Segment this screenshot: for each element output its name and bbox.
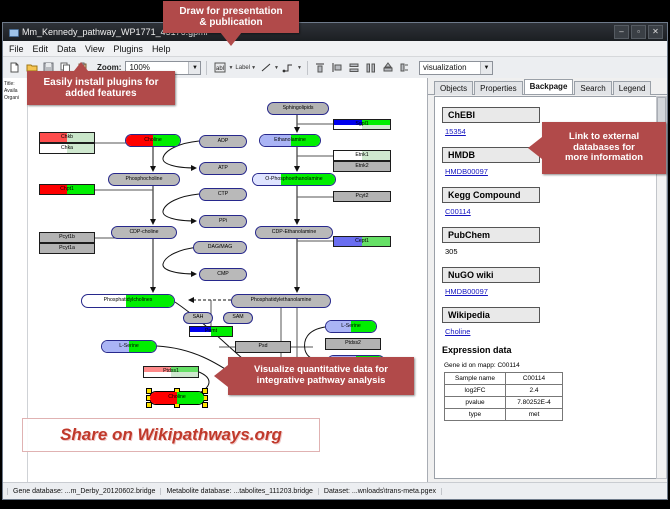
chevron-down-icon[interactable]: ▼ <box>251 65 256 71</box>
text-label-icon[interactable]: abl <box>212 60 227 75</box>
node-label: Choline <box>144 138 162 143</box>
gene-node[interactable]: Ptdss2 <box>325 338 381 350</box>
row-key: log2FC <box>445 385 506 397</box>
node-label: CMP <box>217 272 229 277</box>
metabolite-node[interactable]: CDP-choline <box>111 226 177 239</box>
node-label: Chka <box>61 146 73 151</box>
close-button[interactable]: ✕ <box>648 25 663 39</box>
gene-node[interactable]: Psd <box>235 341 291 353</box>
kegg-compound-header: Kegg Compound <box>442 187 540 203</box>
status-metabolite-database: Metabolite database: ...tabolites_111203… <box>161 488 318 495</box>
node-label: Ptdss2 <box>345 341 361 346</box>
menu-view[interactable]: View <box>85 44 104 54</box>
gene-node[interactable]: Pcyt1b <box>39 232 95 243</box>
share-banner: Share on Wikipathways.org <box>22 418 320 452</box>
node-label: Sphingolipids <box>283 106 314 111</box>
metabolite-node[interactable]: SAH <box>183 312 213 324</box>
row-value: C00114 <box>506 373 563 385</box>
status-gene-database: Gene database: ...m_Derby_20120602.bridg… <box>7 488 161 495</box>
metabolite-node[interactable]: Phosphatidylcholines <box>81 294 175 308</box>
nugo-wiki-link[interactable]: HMDB00097 <box>445 287 649 296</box>
connector-icon[interactable] <box>281 60 296 75</box>
gene-node[interactable]: Sgpl1 <box>333 119 391 130</box>
metabolite-node[interactable]: CTP <box>199 188 247 201</box>
node-label: SAH <box>193 315 204 320</box>
gene-node[interactable]: Ptdss1 <box>143 366 199 378</box>
node-label: ATP <box>218 166 228 171</box>
chevron-down-icon[interactable]: ▼ <box>188 62 200 74</box>
minimize-button[interactable]: – <box>614 25 629 39</box>
selected-metabolite-node[interactable]: Choline <box>149 391 205 405</box>
node-label: CTP <box>218 192 228 197</box>
node-label: CDP-Ethanolamine <box>272 230 316 235</box>
tab-properties[interactable]: Properties <box>474 81 522 95</box>
gene-node[interactable]: Chka <box>39 143 95 154</box>
metabolite-node[interactable]: ATP <box>199 162 247 175</box>
metabolite-node[interactable]: ADP <box>199 135 247 148</box>
align-top-icon[interactable] <box>313 60 328 75</box>
node-label: Pemt <box>205 329 217 334</box>
node-label: L-Serine <box>119 344 139 349</box>
node-label: CDP-choline <box>129 230 158 235</box>
metabolite-node[interactable]: CMP <box>199 268 247 281</box>
table-row: log2FC 2.4 <box>445 385 563 397</box>
row-value: met <box>506 409 563 421</box>
callout-links: Link to external databases for more info… <box>542 122 666 174</box>
status-dataset: Dataset: ...wnloads\trans-meta.pgex <box>319 488 442 495</box>
visualization-value: visualization <box>423 63 467 72</box>
chevron-down-icon[interactable]: ▼ <box>274 65 279 71</box>
info-organism-label: Organi <box>4 95 28 102</box>
gene-node[interactable]: Cept1 <box>333 236 391 247</box>
node-label: Etnk1 <box>355 153 368 158</box>
metabolite-node[interactable]: PPi <box>199 215 247 228</box>
callout-visualize: Visualize quantitative data for integrat… <box>228 357 414 395</box>
side-panel-tabs: Objects Properties Backpage Search Legen… <box>428 78 667 95</box>
tab-legend[interactable]: Legend <box>613 81 652 95</box>
metabolite-node[interactable]: DAG/MAG <box>193 241 247 254</box>
menubar: File Edit Data View Plugins Help <box>3 41 667 57</box>
chevron-down-icon[interactable]: ▼ <box>480 62 492 74</box>
node-label: Cept1 <box>355 239 369 244</box>
node-label: Pcyt2 <box>356 194 369 199</box>
gene-node[interactable]: Etnk1 <box>333 150 391 161</box>
nugo-wiki-header: NuGO wiki <box>442 267 540 283</box>
row-value: 2.4 <box>506 385 563 397</box>
pubchem-header: PubChem <box>442 227 540 243</box>
metabolite-node[interactable]: SAM <box>223 312 253 324</box>
table-row: type met <box>445 409 563 421</box>
node-label: Chkb <box>61 135 73 140</box>
stack-icon[interactable] <box>381 60 396 75</box>
tab-backpage[interactable]: Backpage <box>524 79 574 94</box>
distribute-vertical-icon[interactable] <box>347 60 362 75</box>
node-label: Psd <box>259 344 268 349</box>
expression-data-heading: Expression data <box>442 345 649 355</box>
callout-plugins-arrow-icon <box>70 62 92 76</box>
text-label-tool[interactable]: abl ▼ <box>212 60 233 75</box>
chevron-down-icon[interactable]: ▼ <box>228 65 233 71</box>
row-key: pvalue <box>445 397 506 409</box>
chebi-header: ChEBI <box>442 107 540 123</box>
window-titlebar: Mm_Kennedy_pathway_WP1771_45176.gpml – ▫… <box>3 23 667 41</box>
kegg-compound-link[interactable]: C00114 <box>445 207 649 216</box>
connector-tool[interactable]: ▼ <box>281 60 302 75</box>
line-icon[interactable] <box>258 60 273 75</box>
window-controls: – ▫ ✕ <box>614 25 667 39</box>
group-icon[interactable] <box>398 60 413 75</box>
node-label: PPi <box>219 219 227 224</box>
hmdb-header: HMDB <box>442 147 540 163</box>
menu-edit[interactable]: Edit <box>33 44 49 54</box>
table-row: Sample name C00114 <box>445 373 563 385</box>
row-value: 7.80252E-4 <box>506 397 563 409</box>
node-label: Pcyt1a <box>59 246 75 251</box>
node-label: L-Serine <box>341 324 361 329</box>
metabolite-node[interactable]: L-Serine <box>325 320 377 333</box>
pathway-info-strip: Title: Availa Organi <box>3 78 29 105</box>
info-availability-label: Availa <box>4 88 28 95</box>
menu-plugins[interactable]: Plugins <box>113 44 143 54</box>
node-label: Choline <box>168 395 186 400</box>
wikipedia-link[interactable]: Choline <box>445 327 649 336</box>
gene-node[interactable]: Chkb <box>39 132 95 143</box>
node-label: Sgpl1 <box>355 122 368 127</box>
label-tool[interactable]: Label ▼ <box>235 65 256 71</box>
chevron-down-icon[interactable]: ▼ <box>297 65 302 71</box>
line-tool[interactable]: ▼ <box>258 60 279 75</box>
expression-table: Sample name C00114 log2FC 2.4 pvalue 7.8… <box>444 372 563 421</box>
share-banner-text: Share on Wikipathways.org <box>60 425 282 445</box>
callout-links-arrow-icon <box>528 137 542 159</box>
maximize-button[interactable]: ▫ <box>631 25 646 39</box>
menu-data[interactable]: Data <box>57 44 76 54</box>
metabolite-node[interactable]: O-Phosphoethanolamine <box>252 173 336 186</box>
pubchem-value: 305 <box>445 247 649 256</box>
node-label: Phosphatidylcholines <box>104 298 153 303</box>
tab-search[interactable]: Search <box>574 81 611 95</box>
node-label: ADP <box>218 139 229 144</box>
gene-node[interactable]: Chpt1 <box>39 184 95 195</box>
menu-file[interactable]: File <box>9 44 24 54</box>
node-label: Ptdss1 <box>163 369 179 374</box>
callout-visualize-arrow-icon <box>214 365 228 387</box>
node-label: Chpt1 <box>60 187 74 192</box>
gene-node[interactable]: Pcyt2 <box>333 191 391 202</box>
metabolite-node[interactable]: Sphingolipids <box>267 102 329 115</box>
node-label: Phosphatidylethanolamine <box>251 298 312 303</box>
new-document-icon[interactable] <box>7 60 22 75</box>
callout-plugins: Easily install plugins for added feature… <box>27 71 175 105</box>
metabolite-node[interactable]: L-Serine <box>101 340 157 353</box>
gene-id-label: Gene id on mapp: C00114 <box>444 362 649 369</box>
callout-draw: Draw for presentation & publication <box>163 1 299 33</box>
toolbar-separator <box>307 61 308 75</box>
metabolite-node[interactable]: CDP-Ethanolamine <box>255 226 333 239</box>
tab-objects[interactable]: Objects <box>434 81 473 95</box>
row-key: Sample name <box>445 373 506 385</box>
distribute-horizontal-icon[interactable] <box>364 60 379 75</box>
menu-help[interactable]: Help <box>152 44 171 54</box>
svg-text:abl: abl <box>216 66 224 72</box>
node-label: SAM <box>232 315 243 320</box>
wikipedia-header: Wikipedia <box>442 307 540 323</box>
gene-node[interactable]: Pemt <box>189 326 233 337</box>
label-tool-text: Label <box>235 65 250 71</box>
node-label: Etnk2 <box>355 164 368 169</box>
screenshot-root: Mm_Kennedy_pathway_WP1771_45176.gpml – ▫… <box>0 0 670 509</box>
row-key: type <box>445 409 506 421</box>
visualization-combobox[interactable]: visualization ▼ <box>419 61 493 75</box>
pathvisio-icon <box>8 27 18 37</box>
metabolite-node[interactable]: Phosphatidylethanolamine <box>231 294 331 308</box>
align-left-icon[interactable] <box>330 60 345 75</box>
metabolite-node[interactable]: Ethanolamine <box>259 134 321 147</box>
toolbar-separator <box>206 61 207 75</box>
metabolite-node[interactable]: Phosphocholine <box>108 173 180 186</box>
statusbar: Gene database: ...m_Derby_20120602.bridg… <box>3 482 667 499</box>
node-label: Pcyt1b <box>59 235 75 240</box>
node-label: DAG/MAG <box>208 245 233 250</box>
gene-node[interactable]: Etnk2 <box>333 161 391 172</box>
node-label: Ethanolamine <box>274 138 306 143</box>
table-row: pvalue 7.80252E-4 <box>445 397 563 409</box>
info-title-label: Title: <box>4 81 28 88</box>
node-label: Phosphocholine <box>126 177 163 182</box>
gene-node[interactable]: Pcyt1a <box>39 243 95 254</box>
callout-draw-arrow-icon <box>220 32 242 46</box>
metabolite-node[interactable]: Choline <box>125 134 181 147</box>
node-label: O-Phosphoethanolamine <box>265 177 322 182</box>
